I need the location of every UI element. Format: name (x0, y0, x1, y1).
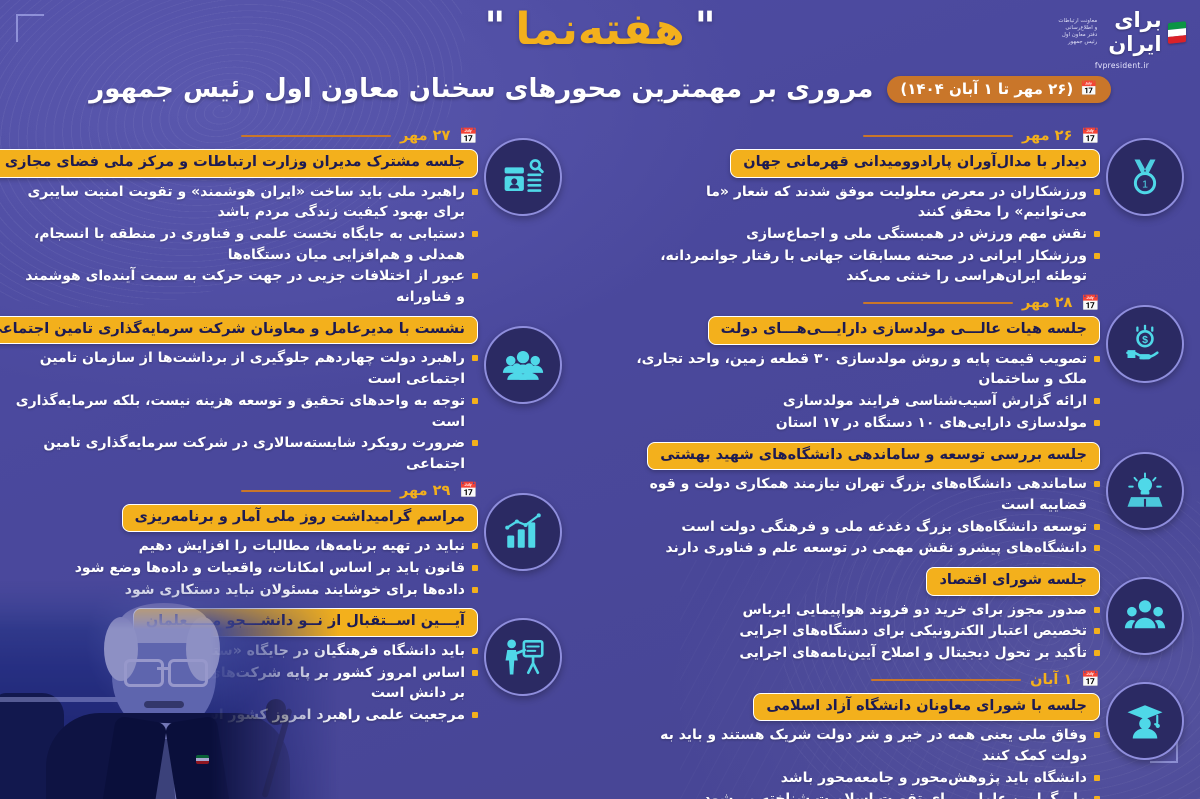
date-rule (863, 302, 1013, 304)
bullet-item: توسعه دانشگاه‌های بزرگ دغدغه ملی و فرهنگ… (636, 517, 1100, 538)
people-group-icon (1106, 577, 1184, 655)
date-range-badge: 📅 (۲۶ مهر تا ۱ آبان ۱۴۰۴) (887, 76, 1110, 103)
logo-org-lines: معاونت ارتباطات و اطلاع‌رسانی دفتر معاون… (1058, 18, 1097, 46)
bullet-list: راهبرد ملی باید ساخت «ایران هوشمند» و تق… (14, 182, 478, 308)
date-line: 📅۲۹ مهر (14, 483, 478, 499)
date-rule (871, 679, 1021, 681)
bullet-list: راهبرد دولت چهاردهم جلوگیری از برداشت‌ها… (14, 348, 478, 474)
graduate-icon (1106, 682, 1184, 760)
logo-org-line2: دفتر معاون اول رئیس جمهور (1058, 32, 1097, 46)
block-title: دیدار با مدال‌آوران پارادوومیدانی قهرمان… (730, 149, 1100, 178)
logo-script-text: برای ایران (1103, 8, 1161, 56)
bullet-list: تصویب قیمت پایه و روش مولدسازی ۳۰ قطعه ز… (636, 349, 1100, 434)
block-title: جلسه هیات عالـــی مولدسازی دارایـــی‌هــ… (708, 316, 1100, 345)
block-date: ۲۹ مهر (400, 483, 450, 499)
calendar-icon: 📅 (1081, 129, 1100, 144)
bullet-item: وفاق ملی یعنی همه در خیر و شر دولت شریک … (636, 725, 1100, 766)
date-line: 📅۲۷ مهر (14, 128, 478, 144)
calendar-icon: 📅 (1081, 672, 1100, 687)
block-title: جلسه شورای اقتصاد (926, 567, 1100, 596)
block-title: مراسم گرامیداشت روز ملی آمار و برنامه‌ری… (122, 504, 478, 533)
bullet-list: صدور مجوز برای خرید دو فروند هواپیمایی ا… (636, 600, 1100, 664)
calendar-icon: 📅 (459, 483, 478, 498)
block-date: ۲۸ مهر (1022, 295, 1072, 311)
quote-close: " (484, 4, 505, 50)
bullet-list: ساماندهی دانشگاه‌های بزرگ تهران نیازمند … (636, 474, 1100, 559)
block-title: نشست با مدیرعامل و معاونان شرکت سرمایه‌گ… (0, 316, 478, 345)
title-pill-row: جلسه با شورای معاونان دانشگاه آزاد اسلام… (636, 693, 1100, 722)
bullet-item: تأکید بر تحول دیجیتال و اصلاح آیین‌نامه‌… (636, 643, 1100, 664)
bullet-item: توجه به واحدهای تحقیق و توسعه هزینه نیست… (14, 391, 478, 432)
agenda-block: جلسه بررسی توسعه و ساماندهی دانشگاه‌های … (636, 442, 1192, 559)
date-range-text: (۲۶ مهر تا ۱ آبان ۱۴۰۴) (900, 80, 1073, 98)
date-line: 📅۱ آبان (636, 672, 1100, 688)
quote-open: " (695, 4, 716, 50)
bullet-item: ملی‌گرایی، عاملی برای تقویت اسلامیت شناخ… (636, 789, 1100, 799)
title-pill-row: نشست با مدیرعامل و معاونان شرکت سرمایه‌گ… (14, 316, 478, 345)
bullet-item: ورزشکاران در معرض معلولیت موفق شدند که ش… (636, 182, 1100, 223)
kicker-text: هفته‌نما (515, 4, 684, 55)
bullet-item: تصویب قیمت پایه و روش مولدسازی ۳۰ قطعه ز… (636, 349, 1100, 390)
bullet-item: دستیابی به جایگاه نخست علمی و فناوری در … (14, 224, 478, 265)
bar-chart-icon (484, 493, 562, 571)
block-title: جلسه بررسی توسعه و ساماندهی دانشگاه‌های … (647, 442, 1100, 471)
date-rule (863, 135, 1013, 137)
logo-row: برای ایران معاونت ارتباطات و اطلاع‌رسانی… (1058, 8, 1186, 56)
bullet-item: صدور مجوز برای خرید دو فروند هواپیمایی ا… (636, 600, 1100, 621)
calendar-icon: 📅 (459, 129, 478, 144)
calendar-icon: 📅 (1081, 296, 1100, 311)
bullet-list: وفاق ملی یعنی همه در خیر و شر دولت شریک … (636, 725, 1100, 799)
date-rule (241, 490, 391, 492)
title-pill-row: دیدار با مدال‌آوران پارادوومیدانی قهرمان… (636, 149, 1100, 178)
block-title: جلسه با شورای معاونان دانشگاه آزاد اسلام… (753, 693, 1100, 722)
date-line: 📅۲۶ مهر (636, 128, 1100, 144)
logo-org-line1: معاونت ارتباطات و اطلاع‌رسانی (1058, 18, 1097, 32)
site-logo[interactable]: برای ایران معاونت ارتباطات و اطلاع‌رسانی… (1058, 8, 1186, 70)
agenda-block: $📅۲۸ مهرجلسه هیات عالـــی مولدسازی دارای… (636, 295, 1192, 433)
iran-flag-icon (1168, 21, 1186, 44)
block-date: ۲۷ مهر (400, 128, 450, 144)
svg-text:1: 1 (1142, 179, 1148, 191)
crowd-icon (484, 326, 562, 404)
bullet-item: قانون باید بر اساس امکانات، واقعیات و دا… (14, 558, 478, 579)
bullet-item: نباید در تهیه برنامه‌ها، مطالبات را افزا… (14, 536, 478, 557)
agenda-block: جلسه شورای اقتصادصدور مجوز برای خرید دو … (636, 567, 1192, 664)
page-subtitle: مروری بر مهمترین محورهای سخنان معاون اول… (89, 74, 873, 104)
bullet-item: نقش مهم ورزش در همبستگی ملی و اجماع‌سازی (636, 224, 1100, 245)
medal-icon: 1 (1106, 138, 1184, 216)
title-pill-row: مراسم گرامیداشت روز ملی آمار و برنامه‌ری… (14, 504, 478, 533)
page-kicker: "هفته‌نما" (0, 4, 1200, 55)
subtitle-row: 📅 (۲۶ مهر تا ۱ آبان ۱۴۰۴) مروری بر مهمتر… (0, 74, 1200, 104)
agenda-block: نشست با مدیرعامل و معاونان شرکت سرمایه‌گ… (14, 316, 570, 475)
title-pill-row: جلسه بررسی توسعه و ساماندهی دانشگاه‌های … (636, 442, 1100, 471)
bullet-item: عبور از اختلافات جزیی در جهت حرکت به سمت… (14, 266, 478, 307)
agenda-block: 📅۱ آبانجلسه با شورای معاونان دانشگاه آزا… (636, 672, 1192, 799)
date-rule (241, 135, 391, 137)
bullet-item: ضرورت رویکرد شایسته‌سالاری در شرکت سرمای… (14, 433, 478, 474)
logo-url: fvpresident.ir (1095, 61, 1149, 70)
infographic-canvas: "هفته‌نما" 📅 (۲۶ مهر تا ۱ آبان ۱۴۰۴) مرو… (0, 0, 1200, 799)
bullet-item: راهبرد دولت چهاردهم جلوگیری از برداشت‌ها… (14, 348, 478, 389)
official-portrait (0, 581, 340, 799)
bullet-item: ورزشکار ایرانی در صحنه مسابقات جهانی با … (636, 246, 1100, 287)
bullet-item: دانشگاه باید پژوهش‌محور و جامعه‌محور باش… (636, 768, 1100, 789)
agenda-block: 📅۲۷ مهرجلسه مشترک مدیران وزارت ارتباطات … (14, 128, 570, 308)
block-date: ۱ آبان (1030, 672, 1072, 688)
bullet-item: تخصیص اعتبار الکترونیکی برای دستگاه‌های … (636, 621, 1100, 642)
bullet-item: راهبرد ملی باید ساخت «ایران هوشمند» و تق… (14, 182, 478, 223)
block-title: جلسه مشترک مدیران وزارت ارتباطات و مرکز … (0, 149, 478, 178)
right-column: 1📅۲۶ مهردیدار با مدال‌آوران پارادوومیدان… (636, 128, 1192, 799)
bullet-item: مولدسازی دارایی‌های ۱۰ دستگاه در ۱۷ استا… (636, 413, 1100, 434)
date-line: 📅۲۸ مهر (636, 295, 1100, 311)
money-hand-icon: $ (1106, 305, 1184, 383)
bullet-item: ساماندهی دانشگاه‌های بزرگ تهران نیازمند … (636, 474, 1100, 515)
bullet-item: دانشگاه‌های پیشرو نقش مهمی در توسعه علم … (636, 538, 1100, 559)
bullet-item: ارائه گزارش آسیب‌شناسی فرایند مولدسازی (636, 391, 1100, 412)
block-date: ۲۶ مهر (1022, 128, 1072, 144)
title-pill-row: جلسه هیات عالـــی مولدسازی دارایـــی‌هــ… (636, 316, 1100, 345)
university-idea-icon (1106, 452, 1184, 530)
title-pill-row: جلسه شورای اقتصاد (636, 567, 1100, 596)
bullet-list: ورزشکاران در معرض معلولیت موفق شدند که ش… (636, 182, 1100, 288)
teacher-board-icon (484, 618, 562, 696)
svg-text:$: $ (1142, 334, 1148, 346)
calendar-icon: 📅 (1080, 82, 1097, 96)
agenda-block: 1📅۲۶ مهردیدار با مدال‌آوران پارادوومیدان… (636, 128, 1192, 287)
title-pill-row: جلسه مشترک مدیران وزارت ارتباطات و مرکز … (14, 149, 478, 178)
id-card-search-icon (484, 138, 562, 216)
